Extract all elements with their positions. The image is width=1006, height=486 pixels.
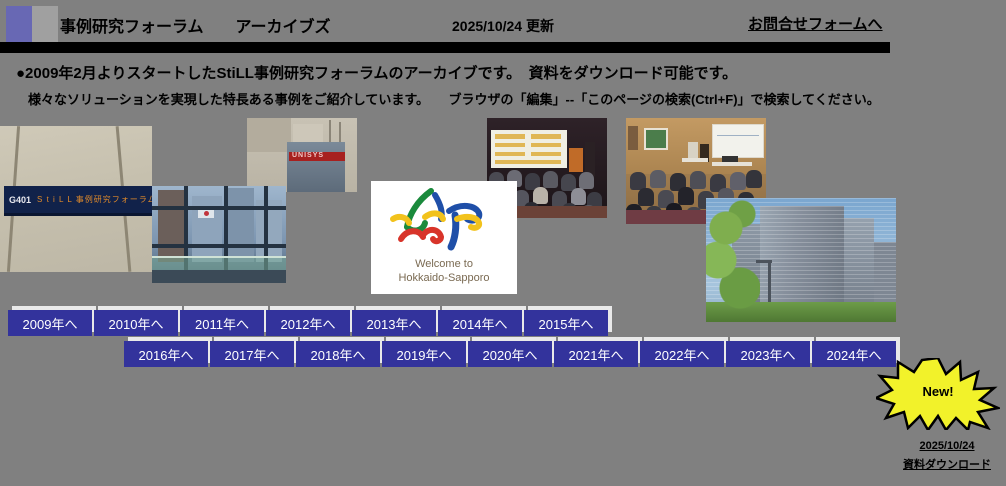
download-material-link[interactable]: 資料ダウンロード — [897, 456, 997, 472]
crowd-silhouette — [571, 188, 586, 205]
update-date: 2025/10/24 更新 — [452, 16, 554, 36]
year-button-2010[interactable]: 2010年へ — [94, 310, 178, 336]
building-sign-text: UNISYS — [292, 152, 324, 159]
header-divider-bar — [0, 42, 890, 53]
archive-page: 事例研究フォーラム アーカイブズ 2025/10/24 更新 お問合せフォームへ… — [0, 0, 1006, 486]
hokkaido-sapporo-logo-card: Welcome to Hokkaido-Sapporo — [371, 181, 517, 294]
year-button-2017[interactable]: 2017年へ — [210, 341, 294, 367]
year-button-2016[interactable]: 2016年へ — [124, 341, 208, 367]
crowd-silhouette — [543, 171, 558, 188]
sapporo-logo-icon — [379, 185, 509, 259]
year-button-2019[interactable]: 2019年へ — [382, 341, 466, 367]
header-accent-block-gray — [32, 6, 58, 42]
intro-line-2: 様々なソリューションを実現した特長ある事例をご紹介しています。 ブラウザの「編集… — [28, 89, 880, 108]
crowd-silhouette — [579, 172, 594, 189]
door-sign-plate: G401 S t i L L 事例研究フォーラム — [4, 186, 152, 213]
year-button-2022[interactable]: 2022年へ — [640, 341, 724, 367]
year-button-2021[interactable]: 2021年へ — [554, 341, 638, 367]
crowd-silhouette — [730, 172, 746, 190]
photo-office-building-sign: UNISYS — [247, 118, 357, 192]
crowd-silhouette — [638, 188, 654, 206]
door-sign-room: G401 — [9, 195, 31, 205]
page-title: 事例研究フォーラム アーカイブズ — [60, 13, 331, 37]
download-date-link[interactable]: 2025/10/24 — [897, 440, 997, 452]
header-accent-block-blue — [6, 6, 32, 42]
new-badge-label: New! — [876, 384, 1000, 399]
year-button-2014[interactable]: 2014年へ — [438, 310, 522, 336]
logo-caption: Welcome to Hokkaido-Sapporo — [371, 257, 517, 285]
door-sign-name: S t i L L 事例研究フォーラム — [37, 194, 152, 205]
photo-office-towers — [706, 198, 896, 322]
photo-door-sign: G401 S t i L L 事例研究フォーラム — [0, 126, 152, 272]
logo-caption-line1: Welcome to — [371, 257, 517, 271]
crowd-silhouette — [746, 170, 762, 188]
intro-line-1: ●2009年2月よりスタートしたStiLL事例研究フォーラムのアーカイブです。 … — [16, 62, 737, 83]
year-button-2015[interactable]: 2015年へ — [524, 310, 608, 336]
photo-glass-wall-city — [152, 186, 286, 283]
year-button-2012[interactable]: 2012年へ — [266, 310, 350, 336]
year-button-2018[interactable]: 2018年へ — [296, 341, 380, 367]
crowd-silhouette — [650, 170, 666, 188]
crowd-silhouette — [678, 187, 694, 205]
crowd-silhouette — [533, 187, 548, 204]
year-button-2009[interactable]: 2009年へ — [8, 310, 92, 336]
year-button-2011[interactable]: 2011年へ — [180, 310, 264, 336]
year-button-2023[interactable]: 2023年へ — [726, 341, 810, 367]
logo-caption-line2: Hokkaido-Sapporo — [371, 271, 517, 285]
year-button-2020[interactable]: 2020年へ — [468, 341, 552, 367]
year-button-2013[interactable]: 2013年へ — [352, 310, 436, 336]
contact-form-link[interactable]: お問合せフォームへ — [748, 13, 883, 34]
crowd-silhouette — [690, 171, 706, 189]
new-badge: New! — [876, 358, 1000, 430]
